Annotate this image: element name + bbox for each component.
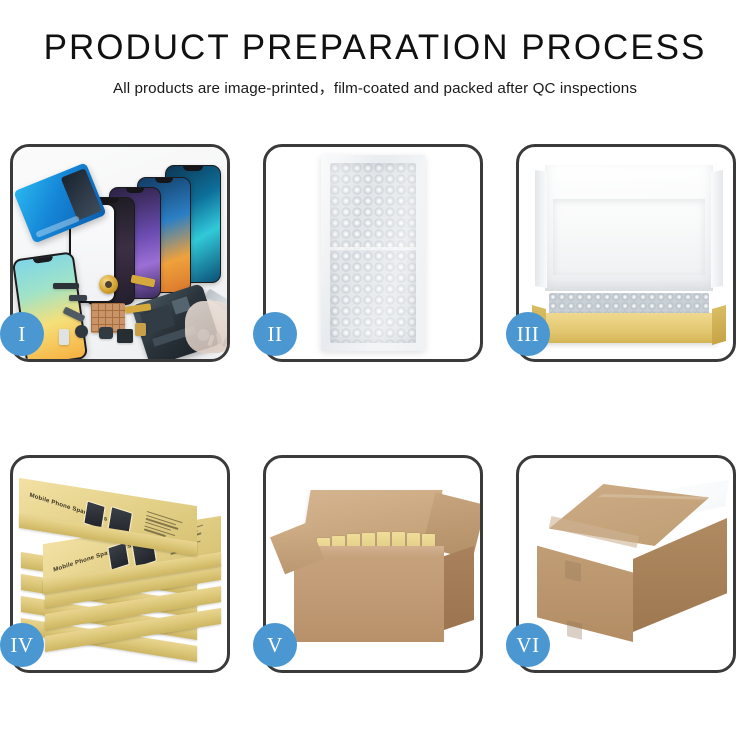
step-badge-4: IV	[0, 623, 44, 667]
carton-left-face	[537, 530, 633, 642]
sim-tray-icon	[59, 329, 69, 345]
step-5-image	[266, 458, 480, 670]
spare-part-icon	[135, 323, 146, 336]
process-step-panel-2[interactable]: II	[263, 144, 483, 362]
process-step-panel-4[interactable]: Mobile Phone Spare Parts Mobile Phone Sp…	[10, 455, 230, 673]
spare-part-icon	[99, 327, 113, 339]
step-2-image	[266, 147, 480, 359]
process-step-panel-6[interactable]: VI	[516, 455, 736, 673]
hand-icon	[185, 301, 227, 353]
step-badge-5: V	[253, 623, 297, 667]
step-badge-2: II	[253, 312, 297, 356]
kraft-box-tray-icon	[541, 313, 717, 343]
step-1-image	[13, 147, 227, 359]
spare-part-icon	[117, 329, 133, 343]
spare-part-icon	[53, 283, 79, 289]
bubble-wrap-seam	[330, 247, 416, 250]
step-badge-3: III	[506, 312, 550, 356]
step-3-image	[519, 147, 733, 359]
process-step-panel-3[interactable]: III	[516, 144, 736, 362]
flex-cable-icon	[69, 295, 87, 301]
white-box-liner	[553, 199, 705, 275]
bubble-wrap-pouch-icon	[321, 155, 425, 351]
bubble-wrap-texture	[330, 163, 416, 343]
sealed-carton-icon	[529, 480, 729, 658]
step-4-image: Mobile Phone Spare Parts Mobile Phone Sp…	[13, 458, 227, 670]
page-header: PRODUCT PREPARATION PROCESS All products…	[0, 0, 750, 100]
camera-lens-icon	[75, 325, 88, 338]
retail-box-stack-icon: Mobile Phone Spare Parts Mobile Phone Sp…	[17, 474, 227, 666]
page-subtitle: All products are image-printed，film-coat…	[0, 78, 750, 100]
coil-part-icon	[99, 275, 118, 294]
carton-handle-patch	[565, 560, 581, 582]
step-badge-6: VI	[506, 623, 550, 667]
carton-side-face	[444, 546, 474, 630]
carton-front-face	[294, 558, 444, 642]
step-6-image	[519, 458, 733, 670]
open-carton-icon	[278, 484, 474, 660]
carton-handle-patch	[567, 620, 582, 639]
process-steps-grid: I II III	[10, 144, 740, 673]
process-step-panel-5[interactable]: V	[263, 455, 483, 673]
process-step-panel-1[interactable]: I	[10, 144, 230, 362]
page-title: PRODUCT PREPARATION PROCESS	[0, 26, 750, 70]
step-badge-1: I	[0, 312, 44, 356]
